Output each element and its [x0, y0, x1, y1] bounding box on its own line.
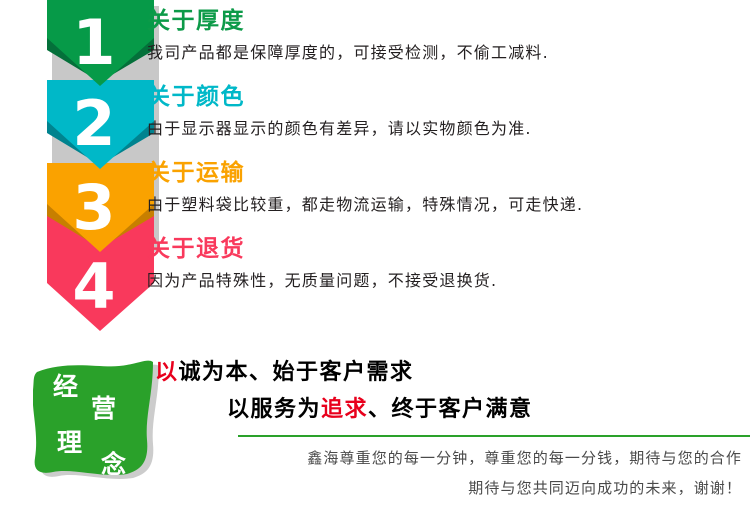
- faq-heading-4: 关于退货: [147, 228, 747, 261]
- numbered-chevron-strip: 1 2 3 4: [40, 0, 160, 345]
- philosophy-section: 经 营 理 念 以诚为本、始于客户需求 以服务为追求、终于客户满意 鑫海尊重您的…: [0, 350, 750, 509]
- green-divider: [238, 435, 750, 437]
- chevron-number-3: 3: [40, 177, 147, 239]
- slogan-2-suffix: 、终于客户满意: [368, 397, 533, 422]
- faq-row-1: 关于厚度 我司产品都是保障厚度的，可接受检测，不偷工减料.: [147, 0, 747, 76]
- slogan-1-highlight: 以: [155, 360, 179, 385]
- slogan-line-2: 以服务为追求、终于客户满意: [155, 384, 750, 421]
- closing-group: 鑫海尊重您的每一分钟，尊重您的每一分钱，期待与您的合作 期待与您共同迈向成功的未…: [0, 443, 742, 496]
- faq-body-2: 由于显示器显示的颜色有差异，请以实物颜色为准.: [147, 109, 747, 137]
- faq-row-4: 关于退货 因为产品特殊性，无质量问题，不接受退换货.: [147, 228, 747, 304]
- slogan-group: 以诚为本、始于客户需求 以服务为追求、终于客户满意: [155, 360, 750, 421]
- ribbon-char-1: 经: [53, 374, 78, 399]
- faq-body-4: 因为产品特殊性，无质量问题，不接受退换货.: [147, 261, 747, 289]
- closing-line-1: 鑫海尊重您的每一分钟，尊重您的每一分钱，期待与您的合作: [0, 443, 742, 466]
- chevron-number-2: 2: [40, 93, 147, 155]
- faq-heading-2: 关于颜色: [147, 76, 747, 109]
- faq-body-3: 由于塑料袋比较重，都走物流运输，特殊情况，可走快递.: [147, 185, 747, 213]
- ribbon-char-2: 营: [91, 396, 116, 421]
- chevron-number-1: 1: [40, 12, 147, 74]
- slogan-2-highlight: 追求: [321, 397, 368, 422]
- chevron-number-4: 4: [40, 256, 147, 318]
- slogan-1-rest: 诚为本、始于客户需求: [179, 360, 414, 385]
- faq-row-3: 关于运输 由于塑料袋比较重，都走物流运输，特殊情况，可走快递.: [147, 152, 747, 228]
- faq-heading-3: 关于运输: [147, 152, 747, 185]
- faq-heading-1: 关于厚度: [147, 0, 747, 33]
- closing-line-2: 期待与您共同迈向成功的未来，谢谢！: [0, 466, 742, 496]
- slogan-line-1: 以诚为本、始于客户需求: [155, 360, 750, 384]
- faq-body-1: 我司产品都是保障厚度的，可接受检测，不偷工减料.: [147, 33, 747, 61]
- faq-row-2: 关于颜色 由于显示器显示的颜色有差异，请以实物颜色为准.: [147, 76, 747, 152]
- slogan-2-prefix: 以服务为: [227, 397, 321, 422]
- faq-section: 1 2 3 4 关于厚度 我司产品都是保障厚度的，可接受检测，不偷工减料. 关于…: [0, 0, 750, 345]
- faq-rows: 关于厚度 我司产品都是保障厚度的，可接受检测，不偷工减料. 关于颜色 由于显示器…: [147, 0, 747, 304]
